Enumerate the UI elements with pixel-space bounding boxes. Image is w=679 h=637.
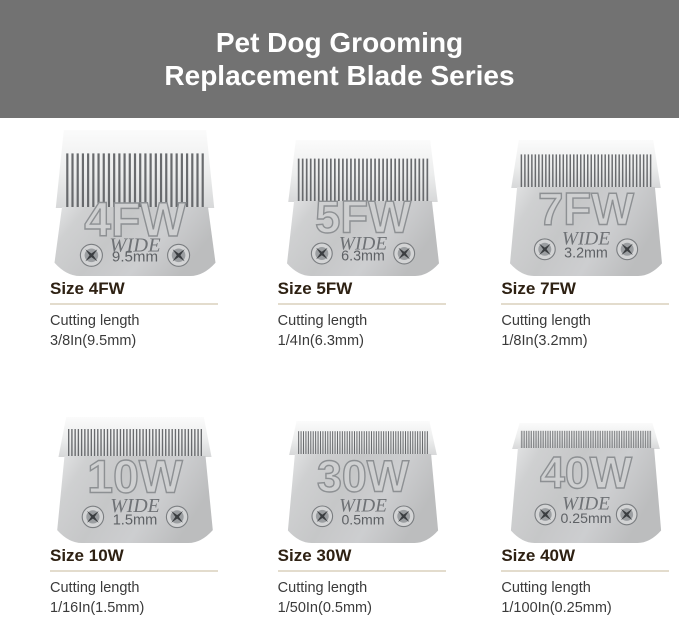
cutting-length-label: Cutting length [50, 578, 224, 598]
product-card-5fw: 5FWWIDE6.3mm Size 5FW Cutting length 1/4… [270, 118, 456, 410]
blade-engraved-mm: 0.25mm [561, 510, 612, 526]
product-size-title: Size 30W [278, 545, 452, 567]
blade-engraved-mm: 6.3mm [341, 248, 385, 264]
blade-image-5fw: 5FWWIDE6.3mm [270, 118, 456, 278]
blade-screw-icon [617, 239, 638, 260]
product-card-7fw: 7FWWIDE3.2mm Size 7FW Cutting length 1/8… [493, 118, 679, 410]
product-caption-10w: Size 10W Cutting length 1/16In(1.5mm) [42, 545, 228, 618]
product-caption-30w: Size 30W Cutting length 1/50In(0.5mm) [270, 545, 456, 618]
product-row-top: 4FWWIDE9.5mm Size 4FW Cutting length 3/8… [0, 118, 679, 410]
blade-screw-icon [393, 506, 414, 527]
product-caption-7fw: Size 7FW Cutting length 1/8In(3.2mm) [493, 278, 679, 351]
blade-screw-icon [617, 504, 638, 525]
product-caption-4fw: Size 4FW Cutting length 3/8In(9.5mm) [42, 278, 228, 351]
cutting-length-label: Cutting length [501, 578, 675, 598]
cutting-length-label: Cutting length [278, 578, 452, 598]
cutting-length-value: 1/50In(0.5mm) [278, 598, 452, 618]
product-caption-40w: Size 40W Cutting length 1/100In(0.25mm) [493, 545, 679, 618]
cutting-length-value: 1/16In(1.5mm) [50, 598, 224, 618]
cutting-length-label: Cutting length [278, 311, 452, 331]
blade-engraved-mm: 0.5mm [341, 511, 384, 527]
cutting-length-value: 1/100In(0.25mm) [501, 598, 675, 618]
product-grid: 4FWWIDE9.5mm Size 4FW Cutting length 3/8… [0, 118, 679, 637]
caption-divider [278, 570, 446, 572]
cutting-length-value: 1/8In(3.2mm) [501, 331, 675, 351]
caption-divider [501, 570, 669, 572]
blade-screw-icon [393, 243, 414, 264]
blade-image-10w: 10WWIDE1.5mm [42, 410, 228, 545]
blade-engraved-mm: 9.5mm [112, 249, 158, 266]
page-header-banner: Pet Dog Grooming Replacement Blade Serie… [0, 0, 679, 118]
cutting-length-label: Cutting length [501, 311, 675, 331]
blade-image-30w: 30WWIDE0.5mm [270, 410, 456, 545]
page-title-line-1: Pet Dog Grooming [216, 26, 463, 59]
blade-engraved-model: 30W [316, 451, 409, 501]
blade-screw-icon [535, 504, 556, 525]
blade-illustration-40w: 40WWIDE0.25mm [503, 421, 669, 545]
blade-image-7fw: 7FWWIDE3.2mm [493, 118, 679, 278]
caption-divider [50, 570, 218, 572]
product-size-title: Size 40W [501, 545, 675, 567]
blade-screw-icon [167, 244, 189, 266]
blade-illustration-30w: 30WWIDE0.5mm [280, 419, 446, 545]
blade-screw-icon [535, 239, 556, 260]
blade-screw-icon [166, 506, 187, 527]
blade-screw-icon [312, 506, 333, 527]
product-row-bottom: 10WWIDE1.5mm Size 10W Cutting length 1/1… [0, 410, 679, 637]
cutting-length-value: 1/4In(6.3mm) [278, 331, 452, 351]
product-card-10w: 10WWIDE1.5mm Size 10W Cutting length 1/1… [42, 410, 228, 637]
page-title-line-2: Replacement Blade Series [164, 59, 514, 92]
blade-screw-icon [311, 243, 332, 264]
product-size-title: Size 10W [50, 545, 224, 567]
blade-illustration-4fw: 4FWWIDE9.5mm [46, 128, 224, 278]
caption-divider [50, 303, 218, 305]
blade-engraved-model: 7FW [538, 183, 634, 234]
blade-illustration-7fw: 7FWWIDE3.2mm [502, 138, 670, 278]
blade-image-40w: 40WWIDE0.25mm [493, 410, 679, 545]
caption-divider [501, 303, 669, 305]
cutting-length-value: 3/8In(9.5mm) [50, 331, 224, 351]
cutting-length-label: Cutting length [50, 311, 224, 331]
caption-divider [278, 303, 446, 305]
product-card-4fw: 4FWWIDE9.5mm Size 4FW Cutting length 3/8… [42, 118, 228, 410]
product-size-title: Size 5FW [278, 278, 452, 300]
blade-illustration-10w: 10WWIDE1.5mm [49, 415, 221, 545]
blade-screw-icon [82, 506, 103, 527]
product-size-title: Size 4FW [50, 278, 224, 300]
blade-image-4fw: 4FWWIDE9.5mm [42, 118, 228, 278]
blade-screw-icon [80, 244, 102, 266]
product-caption-5fw: Size 5FW Cutting length 1/4In(6.3mm) [270, 278, 456, 351]
blade-illustration-5fw: 5FWWIDE6.3mm [279, 138, 447, 278]
blade-engraved-mm: 3.2mm [564, 245, 608, 261]
blade-engraved-model: 40W [540, 448, 633, 498]
product-size-title: Size 7FW [501, 278, 675, 300]
product-card-40w: 40WWIDE0.25mm Size 40W Cutting length 1/… [493, 410, 679, 637]
blade-engraved-mm: 1.5mm [113, 513, 158, 529]
product-card-30w: 30WWIDE0.5mm Size 30W Cutting length 1/5… [270, 410, 456, 637]
